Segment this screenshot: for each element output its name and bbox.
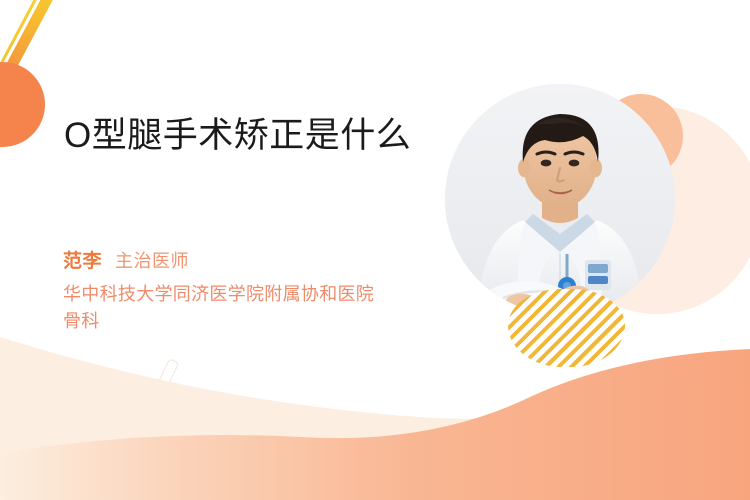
doctor-info-block: 范李 主治医师 华中科技大学同济医学院附属协和医院 骨科	[63, 246, 463, 335]
doctor-rank: 主治医师	[115, 247, 189, 273]
doctor-article-card: O型腿手术矫正是什么 范李 主治医师 华中科技大学同济医学院附属协和医院 骨科	[0, 0, 750, 500]
hospital-name: 华中科技大学同济医学院附属协和医院	[63, 284, 374, 304]
card-content: O型腿手术矫正是什么 范李 主治医师 华中科技大学同济医学院附属协和医院 骨科	[0, 0, 750, 500]
doctor-name: 范李	[63, 246, 102, 273]
doctor-affiliation: 华中科技大学同济医学院附属协和医院 骨科	[63, 281, 448, 335]
department-name: 骨科	[63, 311, 100, 331]
doctor-name-row: 范李 主治医师	[63, 246, 463, 273]
page-title: O型腿手术矫正是什么	[64, 112, 434, 159]
